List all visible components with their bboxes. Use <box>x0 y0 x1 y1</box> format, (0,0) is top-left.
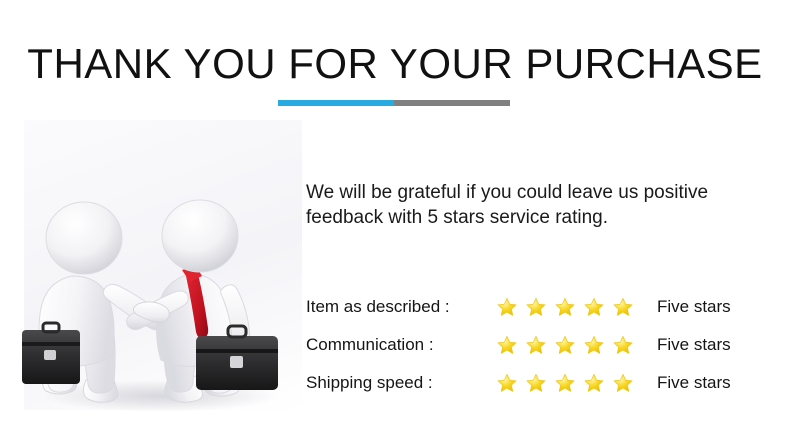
rating-value: Five stars <box>651 335 731 355</box>
star-icon <box>496 296 518 318</box>
title-divider <box>278 100 510 106</box>
rating-row-communication: Communication : Five stars <box>306 326 776 364</box>
rating-row-shipping-speed: Shipping speed : Five stars <box>306 364 776 402</box>
star-rating <box>496 334 651 356</box>
star-rating <box>496 296 651 318</box>
rating-label: Shipping speed : <box>306 373 496 393</box>
star-icon <box>583 372 605 394</box>
feedback-message: We will be grateful if you could leave u… <box>306 180 772 230</box>
page-title: THANK YOU FOR YOUR PURCHASE <box>0 40 790 88</box>
rating-label: Communication : <box>306 335 496 355</box>
figure-right <box>127 200 278 402</box>
star-icon <box>583 334 605 356</box>
rating-label: Item as described : <box>306 297 496 317</box>
star-icon <box>554 334 576 356</box>
star-icon <box>525 372 547 394</box>
handshake-3d-figures-icon <box>10 118 305 418</box>
rating-row-item-as-described: Item as described : Five stars <box>306 288 776 326</box>
star-rating <box>496 372 651 394</box>
star-icon <box>554 372 576 394</box>
star-icon <box>612 372 634 394</box>
thank-you-banner: THANK YOU FOR YOUR PURCHASE <box>0 0 790 434</box>
rating-value: Five stars <box>651 373 731 393</box>
star-icon <box>612 334 634 356</box>
rating-list: Item as described : Five stars Communica… <box>306 288 776 402</box>
divider-blue-segment <box>278 100 394 106</box>
handshake-illustration <box>10 118 305 418</box>
briefcase-left <box>22 323 80 384</box>
divider-gray-segment <box>394 100 510 106</box>
star-icon <box>496 334 518 356</box>
rating-value: Five stars <box>651 297 731 317</box>
star-icon <box>525 334 547 356</box>
star-icon <box>583 296 605 318</box>
star-icon <box>554 296 576 318</box>
star-icon <box>496 372 518 394</box>
star-icon <box>612 296 634 318</box>
message-line-1: We will be grateful if you could leave u… <box>306 182 638 203</box>
star-icon <box>525 296 547 318</box>
